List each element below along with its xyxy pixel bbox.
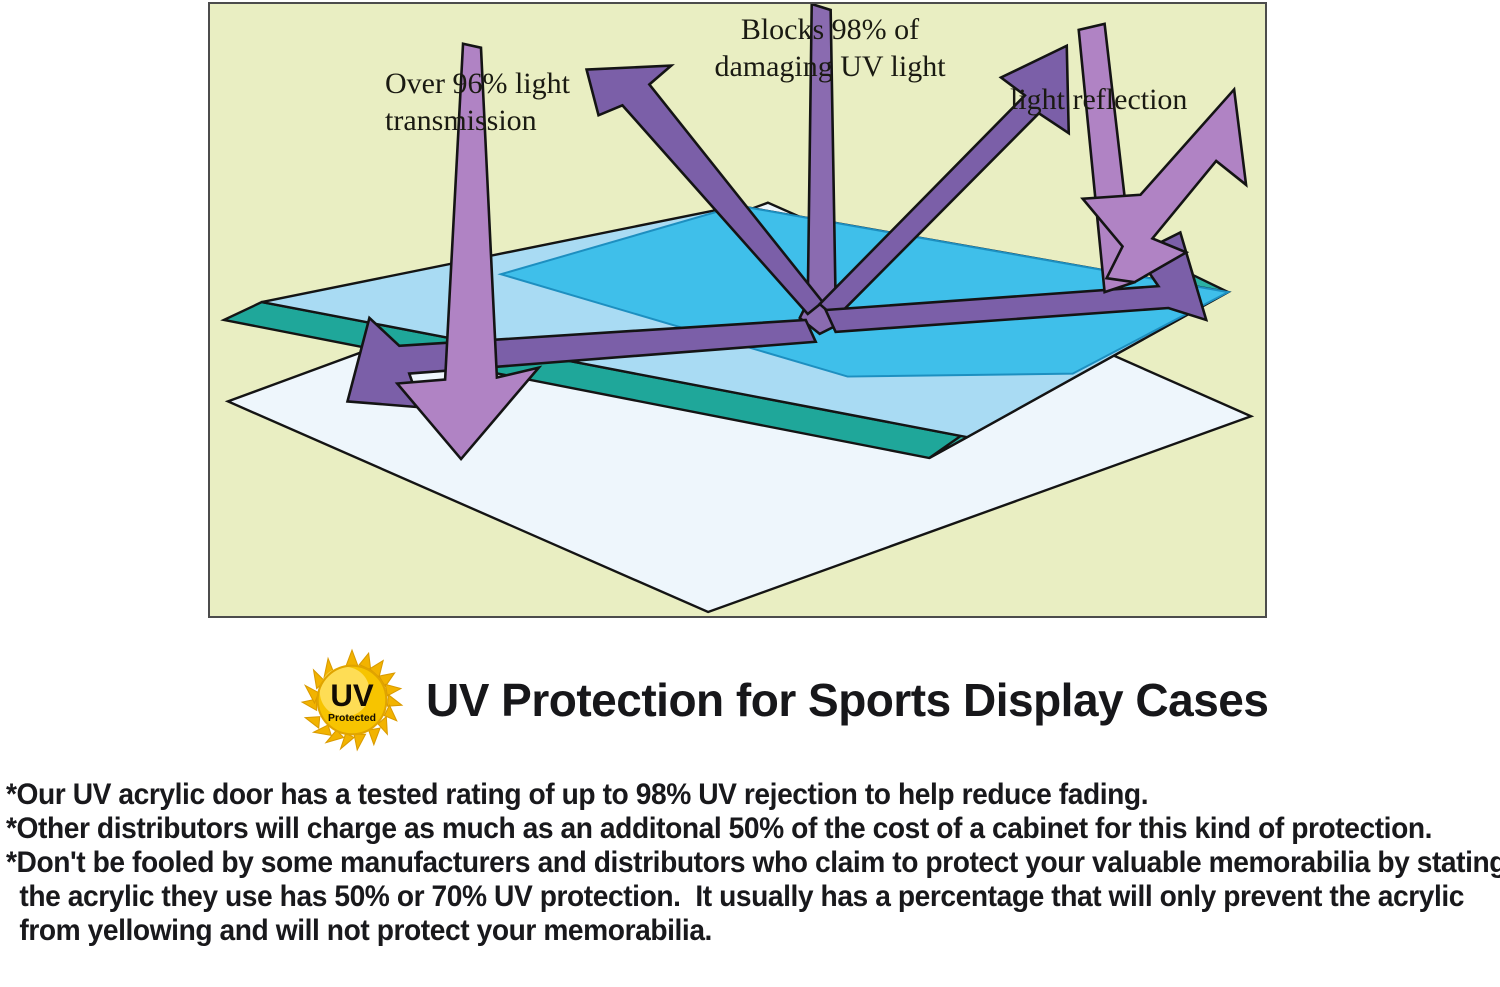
disclaimer-line: the acrylic they use has 50% or 70% UV p… — [6, 880, 1431, 914]
logo-uv-text: UV — [330, 678, 374, 713]
page-title: UV Protection for Sports Display Cases — [426, 677, 1268, 723]
callout-light-transmission: Over 96% light transmission — [385, 66, 645, 139]
sun-icon: UV Protected — [300, 648, 404, 752]
disclaimer-line: from yellowing and will not protect your… — [6, 914, 1431, 948]
callout-light-reflection: light reflection — [1010, 82, 1267, 119]
uv-protected-sun-icon: UV Protected — [300, 648, 404, 752]
disclaimer-line: *Don't be fooled by some manufacturers a… — [6, 846, 1431, 880]
disclaimer-line: *Other distributors will charge as much … — [6, 812, 1431, 846]
disclaimer-text-block: *Our UV acrylic door has a tested rating… — [6, 778, 1498, 948]
diagram-panel: Over 96% light transmission Blocks 98% o… — [208, 2, 1267, 618]
title-row: UV Protected UV Protection for Sports Di… — [300, 648, 1268, 752]
callout-uv-blocked: Blocks 98% of damaging UV light — [690, 12, 970, 85]
logo-protected-text: Protected — [328, 713, 376, 724]
disclaimer-line: *Our UV acrylic door has a tested rating… — [6, 778, 1431, 812]
uv-protection-infographic: Over 96% light transmission Blocks 98% o… — [0, 0, 1500, 987]
